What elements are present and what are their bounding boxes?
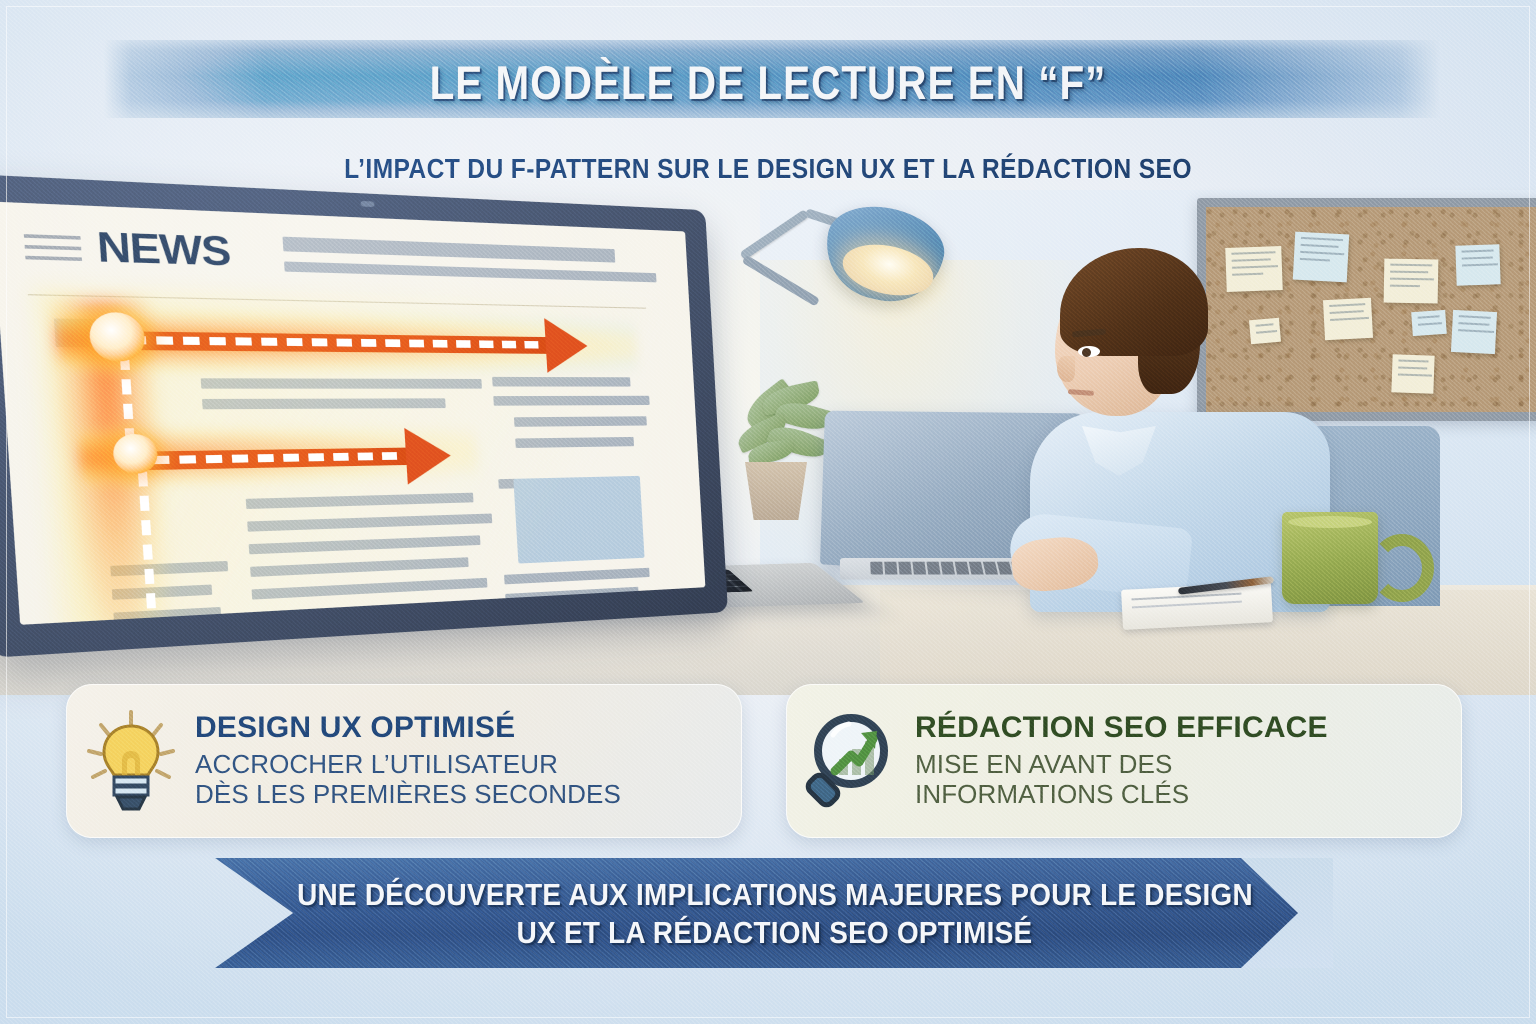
card-text: RÉDACTION SEO EFFICACE MISE EN AVANT DES… <box>915 712 1461 810</box>
ribbon-line-2: UX ET LA RÉDACTION SEO OPTIMISÉ <box>517 915 1033 951</box>
f-pattern-arrow-mid-head <box>404 427 452 484</box>
image-placeholder <box>513 476 644 564</box>
card-heading: DESIGN UX OPTIMISÉ <box>195 712 723 744</box>
sticky-note <box>1451 310 1497 354</box>
text-line <box>514 416 647 427</box>
mug-handle <box>1370 534 1434 602</box>
text-line <box>201 378 482 388</box>
f-pattern-path-vertical-lower <box>138 471 159 625</box>
text-line <box>112 585 212 600</box>
site-logo-label: NEWS <box>95 223 231 276</box>
text-line <box>113 607 221 623</box>
hamburger-icon[interactable] <box>24 234 81 240</box>
sticky-note <box>1455 244 1500 286</box>
person-pupil <box>1082 348 1091 357</box>
card-redaction-seo[interactable]: RÉDACTION SEO EFFICACE MISE EN AVANT DES… <box>786 684 1462 838</box>
footer-ribbon-text: UNE DÉCOUVERTE AUX IMPLICATIONS MAJEURES… <box>235 866 1315 962</box>
text-line <box>247 514 492 532</box>
text-line <box>492 377 630 387</box>
laptop-f-pattern: NEWS <box>80 212 880 662</box>
text-line <box>246 493 474 509</box>
sticky-note <box>1411 310 1447 336</box>
highlight-cards: DESIGN UX OPTIMISÉ ACCROCHER L’UTILISATE… <box>0 684 1536 836</box>
text-line <box>505 587 639 604</box>
sticky-note <box>1249 318 1281 345</box>
text-line <box>202 398 446 409</box>
nav-bar-placeholder <box>282 237 615 263</box>
text-line <box>249 535 481 554</box>
person-nose <box>1057 356 1075 382</box>
laptop-screen[interactable]: NEWS <box>0 202 705 625</box>
card-body-line-1: MISE EN AVANT DES <box>915 749 1443 780</box>
card-body-line-2: INFORMATIONS CLÉS <box>915 779 1443 810</box>
news-webpage: NEWS <box>0 202 705 625</box>
sticky-note <box>1323 298 1373 340</box>
nav-bar-placeholder <box>284 261 656 282</box>
text-line <box>504 568 650 585</box>
card-design-ux[interactable]: DESIGN UX OPTIMISÉ ACCROCHER L’UTILISATE… <box>66 684 742 838</box>
lightbulb-icon <box>67 701 195 821</box>
illustration-scene: NEWS <box>0 190 1536 690</box>
text-line <box>250 557 469 577</box>
infographic-poster: LE MODÈLE DE LECTURE EN “F” L’IMPACT DU … <box>0 0 1536 1024</box>
laptop-lid: NEWS <box>0 173 728 657</box>
sticky-note <box>1293 232 1349 283</box>
coffee-mug <box>1282 512 1378 604</box>
card-body-line-1: ACCROCHER L’UTILISATEUR <box>195 749 723 780</box>
text-line <box>515 437 634 448</box>
ribbon-line-1: UNE DÉCOUVERTE AUX IMPLICATIONS MAJEURES… <box>297 877 1253 913</box>
page-subtitle: L’IMPACT DU F-PATTERN SUR LE DESIGN UX E… <box>92 148 1444 190</box>
text-line <box>493 396 649 406</box>
sticky-note <box>1384 259 1439 304</box>
divider <box>28 294 646 309</box>
corkboard <box>1197 198 1536 421</box>
text-line <box>110 561 228 576</box>
page-title: LE MODÈLE DE LECTURE EN “F” <box>108 47 1429 117</box>
card-body-line-2: DÈS LES PREMIÈRES SECONDES <box>195 779 723 810</box>
magnifier-growth-icon <box>787 701 915 821</box>
webcam-icon <box>360 201 374 207</box>
f-pattern-arrow-top-head <box>544 318 589 373</box>
f-pattern-node-top <box>88 312 146 362</box>
card-text: DESIGN UX OPTIMISÉ ACCROCHER L’UTILISATE… <box>195 712 741 810</box>
sticky-note <box>1225 246 1283 292</box>
sticky-note <box>1391 354 1434 393</box>
card-heading: RÉDACTION SEO EFFICACE <box>915 712 1443 744</box>
text-line <box>252 578 488 600</box>
